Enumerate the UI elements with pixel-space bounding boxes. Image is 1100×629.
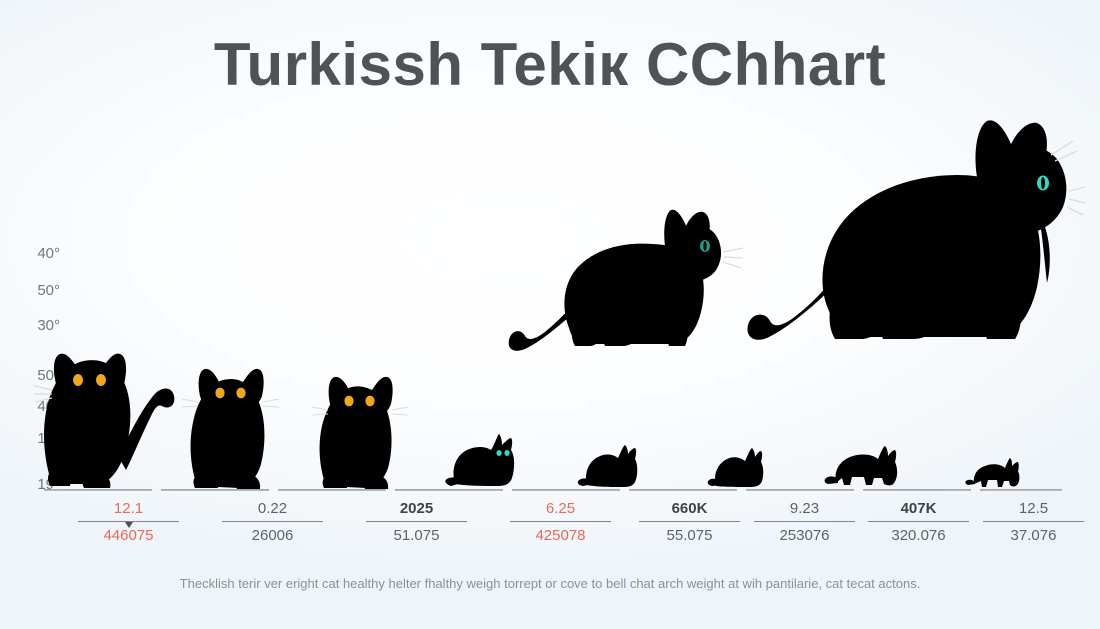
value-top-2: 2025 [360, 498, 473, 520]
value-top-5: 9.23 [748, 498, 861, 520]
cat-silhouette-floating-medium [505, 200, 745, 380]
cat-silhouette-floating-xlarge [745, 115, 1085, 380]
cat-silhouette-5 [704, 438, 770, 490]
cat-silhouette-6 [822, 438, 906, 490]
data-column-3[interactable]: 6.25 425078 [504, 498, 617, 550]
value-bottom-5: 253076 [748, 522, 861, 550]
cat-eye-right [236, 388, 245, 399]
data-column-2[interactable]: 2025 51.075 [360, 498, 473, 550]
cat-silhouette-2 [300, 362, 412, 490]
baseline-segment-0 [44, 489, 152, 491]
data-column-6[interactable]: 407K 320.076 [862, 498, 975, 550]
baseline-segment-8 [980, 489, 1062, 491]
baseline-segment-4 [512, 489, 620, 491]
page-title: Turkissh Tekiк CChhart [0, 30, 1100, 99]
value-top-3: 6.25 [504, 498, 617, 520]
value-bottom-6: 320.076 [862, 522, 975, 550]
cat-silhouette-7 [964, 454, 1026, 490]
data-label-row: 12.1 446075 0.22 26006 2025 51.075 6.25 … [44, 498, 1062, 558]
value-top-6: 407K [862, 498, 975, 520]
cat-silhouette-0 [22, 338, 182, 490]
cat-eye-left [344, 396, 353, 407]
baseline-segment-7 [863, 489, 971, 491]
value-top-1: 0.22 [216, 498, 329, 520]
value-top-7: 12.5 [977, 498, 1090, 520]
baseline-segment-2 [278, 489, 386, 491]
plot-area [45, 110, 1060, 490]
value-bottom-7: 37.076 [977, 522, 1090, 550]
value-bottom-1: 26006 [216, 522, 329, 550]
cat-silhouette-4 [575, 436, 645, 490]
cat-eye-right [96, 374, 106, 386]
value-top-0: 12.1 [72, 498, 185, 520]
chart-caption: Thecklish terir ver eright cat healthy h… [0, 576, 1100, 591]
cat-eye-left [73, 374, 83, 386]
cat-eye-left [496, 450, 501, 456]
cat-eye-left [215, 388, 224, 399]
chart-column-1[interactable] [172, 110, 285, 490]
baseline-segment-6 [746, 489, 854, 491]
data-column-4[interactable]: 660K 55.075 [633, 498, 746, 550]
baseline-segment-5 [629, 489, 737, 491]
value-bottom-2: 51.075 [360, 522, 473, 550]
data-column-1[interactable]: 0.22 26006 [216, 498, 329, 550]
cat-silhouette-1 [173, 356, 285, 490]
cat-pupil [703, 241, 706, 251]
value-bottom-3: 425078 [504, 522, 617, 550]
cat-pupil [1041, 177, 1045, 189]
cat-eye-right [504, 450, 509, 456]
cat-eye-right [365, 396, 374, 407]
x-axis-baseline [44, 489, 1062, 492]
cat-silhouette-3 [441, 426, 525, 490]
data-column-0[interactable]: 12.1 446075 [72, 498, 185, 550]
chart-column-0[interactable] [45, 110, 158, 490]
value-top-4: 660K [633, 498, 746, 520]
selection-marker-icon [125, 522, 133, 528]
baseline-segment-1 [161, 489, 269, 491]
data-column-7[interactable]: 12.5 37.076 [977, 498, 1090, 550]
value-bottom-4: 55.075 [633, 522, 746, 550]
data-column-5[interactable]: 9.23 253076 [748, 498, 861, 550]
chart-column-2[interactable] [299, 110, 412, 490]
chart-canvas: Turkissh Tekiк CChhart 40° 50° 30° 50° 4… [0, 0, 1100, 629]
baseline-segment-3 [395, 489, 503, 491]
